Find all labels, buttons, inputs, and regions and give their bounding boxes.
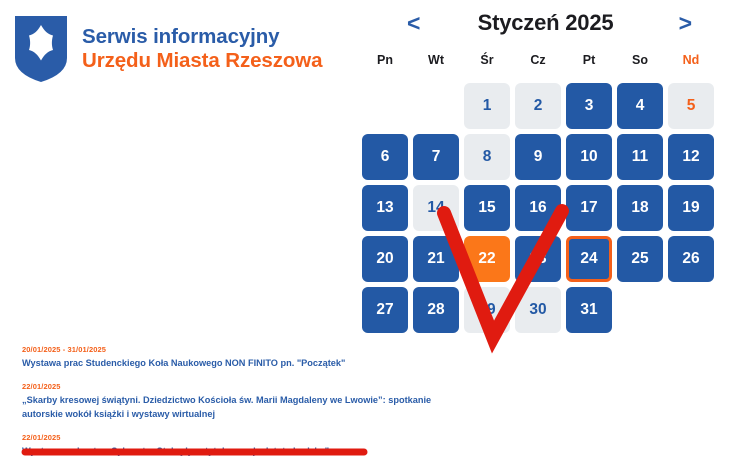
calendar-day-20[interactable]: 20 xyxy=(362,236,408,282)
calendar-day-5: 5 xyxy=(668,83,714,129)
calendar-header: < Styczeń 2025 > xyxy=(355,0,736,45)
weekday-header-pt: Pt xyxy=(566,45,612,78)
calendar-day-30: 30 xyxy=(515,287,561,333)
calendar-day-13[interactable]: 13 xyxy=(362,185,408,231)
page-root: Serwis informacyjny Urzędu Miasta Rzeszo… xyxy=(0,0,736,463)
brand-line-1: Serwis informacyjny xyxy=(82,25,322,49)
calendar-day-15[interactable]: 15 xyxy=(464,185,510,231)
list-item[interactable]: 22/01/2025 „Skarby kresowej świątyni. Dz… xyxy=(22,382,442,421)
calendar-day-31[interactable]: 31 xyxy=(566,287,612,333)
calendar-day-19[interactable]: 19 xyxy=(668,185,714,231)
site-brand[interactable]: Serwis informacyjny Urzędu Miasta Rzeszo… xyxy=(12,14,322,84)
brand-line-2: Urzędu Miasta Rzeszowa xyxy=(82,49,322,73)
calendar-day-7[interactable]: 7 xyxy=(413,134,459,180)
calendar-day-25[interactable]: 25 xyxy=(617,236,663,282)
calendar-day-27[interactable]: 27 xyxy=(362,287,408,333)
calendar-day-21[interactable]: 21 xyxy=(413,236,459,282)
calendar-day-10[interactable]: 10 xyxy=(566,134,612,180)
event-date: 20/01/2025 - 31/01/2025 xyxy=(22,345,442,354)
weekday-header-śr: Śr xyxy=(464,45,510,78)
event-title[interactable]: Wystawa malarstwa Sylwestra Stabryły zat… xyxy=(22,445,442,458)
prev-month-button[interactable]: < xyxy=(401,10,426,37)
calendar-day-29: 29 xyxy=(464,287,510,333)
calendar-day-9[interactable]: 9 xyxy=(515,134,561,180)
calendar-day-4[interactable]: 4 xyxy=(617,83,663,129)
calendar-empty-cell xyxy=(413,83,459,129)
calendar-day-11[interactable]: 11 xyxy=(617,134,663,180)
weekday-header-pn: Pn xyxy=(362,45,408,78)
calendar-day-14: 14 xyxy=(413,185,459,231)
brand-text: Serwis informacyjny Urzędu Miasta Rzeszo… xyxy=(82,25,322,73)
next-month-button[interactable]: > xyxy=(673,10,698,37)
calendar-day-18[interactable]: 18 xyxy=(617,185,663,231)
calendar-day-2: 2 xyxy=(515,83,561,129)
event-calendar: < Styczeń 2025 > PnWtŚrCzPtSoNd123456789… xyxy=(355,0,736,333)
calendar-month-title: Styczeń 2025 xyxy=(478,10,614,36)
calendar-empty-cell xyxy=(362,83,408,129)
rzeszow-shield-cross-icon xyxy=(12,14,70,84)
weekday-header-cz: Cz xyxy=(515,45,561,78)
calendar-day-23[interactable]: 23 xyxy=(515,236,561,282)
calendar-day-8: 8 xyxy=(464,134,510,180)
list-item[interactable]: 22/01/2025 Wystawa malarstwa Sylwestra S… xyxy=(22,433,442,458)
calendar-grid: PnWtŚrCzPtSoNd12345678910111213141516171… xyxy=(355,45,736,333)
calendar-day-12[interactable]: 12 xyxy=(668,134,714,180)
calendar-day-26[interactable]: 26 xyxy=(668,236,714,282)
calendar-day-28[interactable]: 28 xyxy=(413,287,459,333)
weekday-header-wt: Wt xyxy=(413,45,459,78)
calendar-day-16[interactable]: 16 xyxy=(515,185,561,231)
calendar-day-1: 1 xyxy=(464,83,510,129)
calendar-day-3[interactable]: 3 xyxy=(566,83,612,129)
weekday-header-nd: Nd xyxy=(668,45,714,78)
event-title[interactable]: Wystawa prac Studenckiego Koła Naukowego… xyxy=(22,357,442,370)
events-list: 20/01/2025 - 31/01/2025 Wystawa prac Stu… xyxy=(22,345,442,458)
list-item[interactable]: 20/01/2025 - 31/01/2025 Wystawa prac Stu… xyxy=(22,345,442,370)
calendar-day-6[interactable]: 6 xyxy=(362,134,408,180)
calendar-day-22[interactable]: 22 xyxy=(464,236,510,282)
event-title[interactable]: „Skarby kresowej świątyni. Dziedzictwo K… xyxy=(22,394,442,421)
event-date: 22/01/2025 xyxy=(22,382,442,391)
event-date: 22/01/2025 xyxy=(22,433,442,442)
weekday-header-so: So xyxy=(617,45,663,78)
calendar-day-24[interactable]: 24 xyxy=(566,236,612,282)
calendar-day-17[interactable]: 17 xyxy=(566,185,612,231)
